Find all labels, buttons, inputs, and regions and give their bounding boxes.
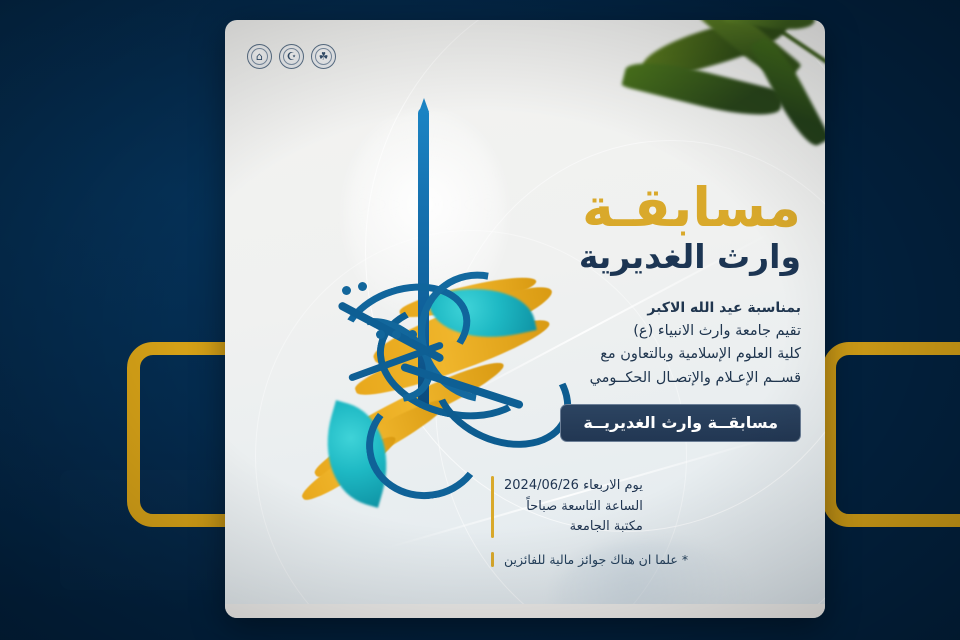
poster-stage: ☘ ☪ ⌂ [0,0,960,640]
background-vignette [0,0,960,640]
